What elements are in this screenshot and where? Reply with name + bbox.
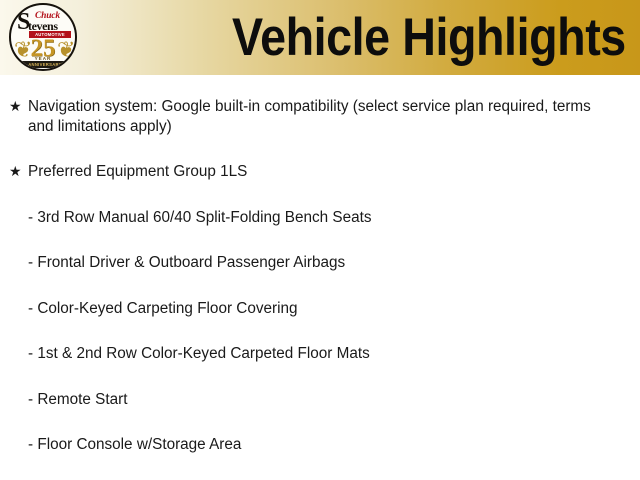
spacer: [0, 136, 640, 162]
spacer: [0, 75, 640, 97]
spacer: [0, 273, 640, 299]
star-bullet-icon: ★: [9, 162, 22, 182]
spacer: [0, 318, 640, 344]
highlights-list: ★ Navigation system: Google built-in com…: [0, 75, 640, 455]
list-item-label: Navigation system: Google built-in compa…: [28, 98, 591, 135]
list-item: - Floor Console w/Storage Area: [0, 435, 640, 455]
list-item: ★ Preferred Equipment Group 1LS: [0, 162, 640, 182]
star-bullet-icon: ★: [9, 97, 22, 117]
list-item: - Frontal Driver & Outboard Passenger Ai…: [0, 253, 640, 273]
list-item-label: Preferred Equipment Group 1LS: [28, 163, 247, 180]
logo-anniversary-banner: ANNIVERSARY: [22, 61, 68, 68]
list-item: - 1st & 2nd Row Color-Keyed Carpeted Flo…: [0, 344, 640, 364]
logo-anniversary-label: ANNIVERSARY: [22, 61, 68, 68]
page-title: Vehicle Highlights: [232, 10, 626, 66]
header-banner: Vehicle Highlights: [0, 0, 640, 75]
spacer: [0, 409, 640, 435]
spacer: [0, 182, 640, 208]
list-item: - Color-Keyed Carpeting Floor Covering: [0, 299, 640, 319]
spacer: [0, 364, 640, 390]
list-item: - Remote Start: [0, 390, 640, 410]
list-item: - 3rd Row Manual 60/40 Split-Folding Ben…: [0, 208, 640, 228]
list-item: ★ Navigation system: Google built-in com…: [0, 97, 640, 136]
dealer-logo: ❦ ❦ S Chuck tevens AUTOMOTIVE 25 YEAR AN…: [9, 3, 77, 71]
spacer: [0, 227, 640, 253]
